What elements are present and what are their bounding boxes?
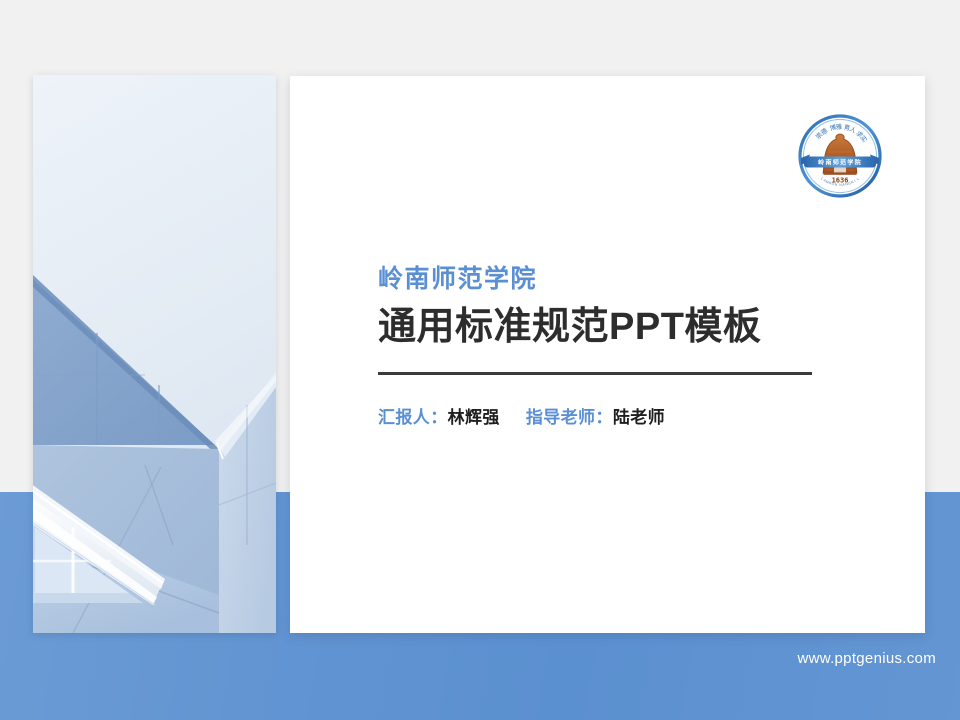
title-text-block: 岭南师范学院 通用标准规范PPT模板 汇报人：林辉强指导老师：陆老师 xyxy=(378,264,838,428)
school-name: 岭南师范学院 xyxy=(378,264,838,295)
architecture-photo-illustration xyxy=(33,75,276,633)
title-card: 崇 德 博 雅 育 人 求 实 岭南师范学院 xyxy=(290,76,925,633)
svg-text:岭南师范学院: 岭南师范学院 xyxy=(818,158,862,166)
page-title: 通用标准规范PPT模板 xyxy=(378,304,838,350)
university-logo: 崇 德 博 雅 育 人 求 实 岭南师范学院 xyxy=(795,108,885,204)
presenter-name: 林辉强 xyxy=(448,408,500,427)
cover-photo-panel xyxy=(33,75,276,633)
presenter-label: 汇报人： xyxy=(378,408,448,427)
credits-line: 汇报人：林辉强指导老师：陆老师 xyxy=(378,403,838,428)
advisor-name: 陆老师 xyxy=(613,408,665,427)
footer-url: www.pptgenius.com xyxy=(0,650,936,667)
advisor-label: 指导老师： xyxy=(526,408,613,427)
university-emblem-icon: 崇 德 博 雅 育 人 求 实 岭南师范学院 xyxy=(795,108,885,204)
svg-text:雅: 雅 xyxy=(836,123,843,131)
title-divider xyxy=(378,372,812,375)
